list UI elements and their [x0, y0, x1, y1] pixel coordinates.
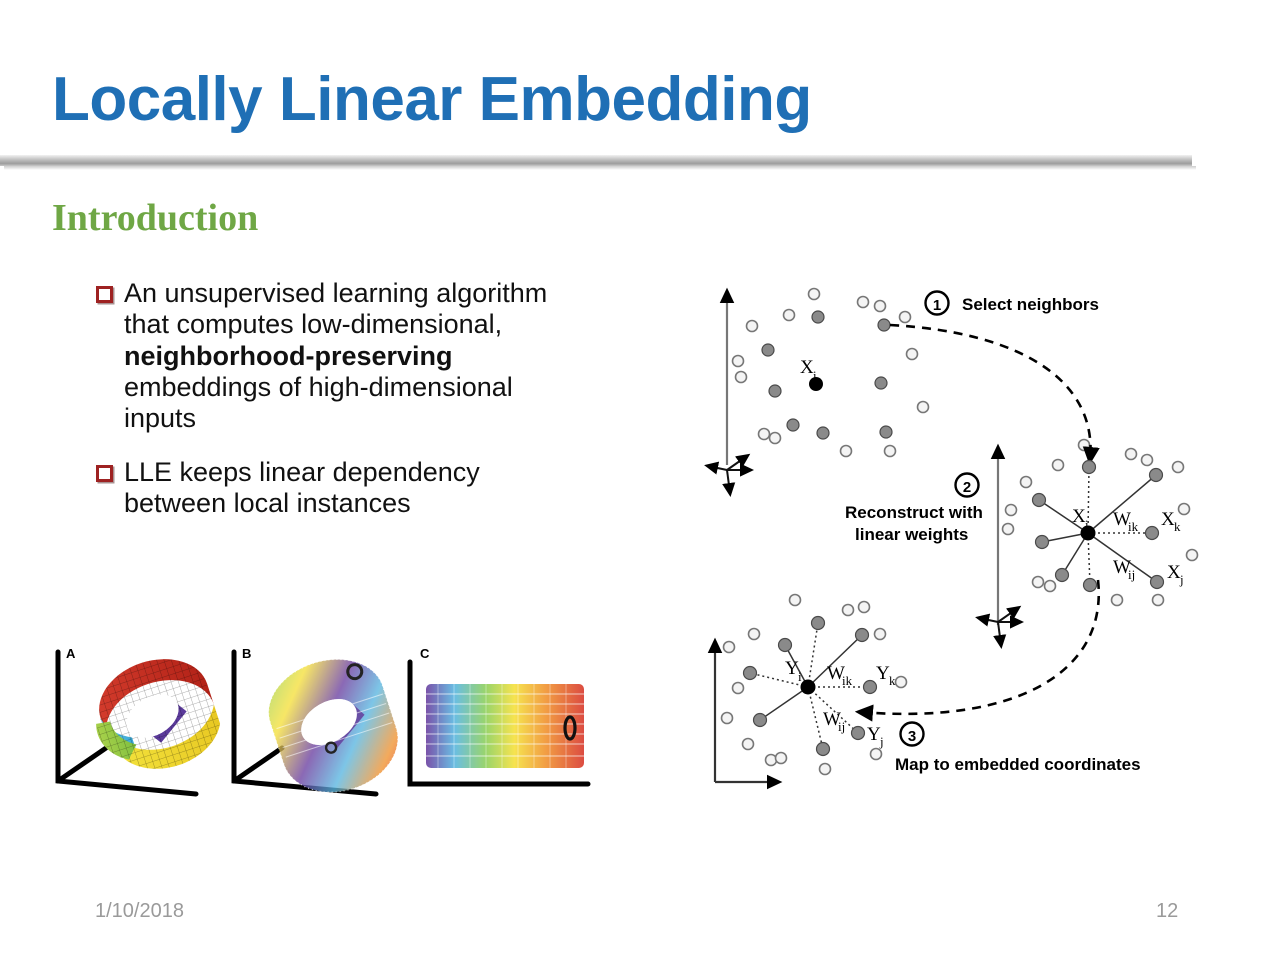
- list-item: An unsupervised learning algorithm that …: [96, 278, 566, 435]
- title-divider-shadow: [4, 166, 1196, 170]
- step-2-label-line1: Reconstruct with: [845, 503, 983, 522]
- manifold-panel-b: B: [234, 645, 410, 806]
- bullet-seg-plain-2: embeddings of high-dimensional inputs: [124, 372, 513, 433]
- panel-a-label: A: [66, 646, 76, 661]
- manifold-panel-a: A: [58, 645, 230, 794]
- label-wij-panel3-sub: ij: [838, 719, 845, 734]
- panel-b-label: B: [242, 646, 251, 661]
- step-2-number: 2: [963, 479, 971, 496]
- manifold-panel-c: C: [410, 646, 588, 784]
- label-yk-panel3: Y: [876, 663, 890, 684]
- label-yj-panel3-sub: j: [879, 734, 884, 749]
- label-xk-panel2-sub: k: [1174, 519, 1181, 534]
- title-divider: [0, 155, 1192, 166]
- label-xi-panel1-sub: i: [813, 368, 817, 383]
- bullet-text-1: LLE keeps linear dependency between loca…: [124, 457, 566, 520]
- point-yi-panel3: [801, 680, 816, 695]
- label-yi-panel3-sub: i: [798, 669, 802, 684]
- label-xj-panel2-sub: j: [1179, 572, 1184, 587]
- label-wik-panel2-sub: ik: [1128, 519, 1139, 534]
- square-bullet-icon: [96, 286, 113, 303]
- manifold-figure: A: [48, 636, 608, 816]
- step-1-number: 1: [933, 297, 941, 314]
- label-yj-panel3: Y: [867, 724, 881, 745]
- square-bullet-icon: [96, 465, 113, 482]
- label-xi-panel1: X: [800, 357, 814, 378]
- label-wij-panel2-sub: ij: [1128, 567, 1135, 582]
- manifold-figure-svg: A: [48, 636, 608, 816]
- label-xj-panel2: X: [1167, 562, 1181, 583]
- step-3-label: Map to embedded coordinates: [895, 755, 1141, 774]
- label-wik-panel3-sub: ik: [842, 673, 853, 688]
- bullet-seg-bold: neighborhood-preserving: [124, 341, 453, 371]
- lle-panel-embed: Y i W ik Y k W ij Y j: [715, 595, 907, 783]
- lle-step-3-caption: 3 Map to embedded coordinates: [895, 723, 1141, 775]
- lle-panel-select-neighbors: X i: [708, 289, 1090, 494]
- label-xk-panel2: X: [1161, 509, 1175, 530]
- page-title: Locally Linear Embedding: [52, 64, 812, 135]
- flow-arrow-1-to-2: [890, 325, 1091, 460]
- bullet-list: An unsupervised learning algorithm that …: [96, 278, 566, 541]
- section-heading: Introduction: [52, 196, 258, 240]
- bullet-text-0: An unsupervised learning algorithm that …: [124, 278, 566, 435]
- footer-date: 1/10/2018: [95, 900, 184, 923]
- step-1-label: Select neighbors: [962, 295, 1099, 314]
- step-3-number: 3: [908, 728, 916, 745]
- bullet-seg-plain: An unsupervised learning algorithm that …: [124, 278, 547, 339]
- lle-step-2-caption: 2 Reconstruct with linear weights: [845, 474, 983, 545]
- lle-steps-figure: X i 1 Select neighbors: [690, 270, 1210, 810]
- lle-panel-reconstruct: X i W ik X k W ij X j: [979, 448, 1198, 645]
- lle-step-1-caption: 1 Select neighbors: [926, 292, 1099, 315]
- label-xi-panel2-sub: i: [1085, 517, 1089, 532]
- label-xi-panel2: X: [1072, 506, 1086, 527]
- label-yi-panel3: Y: [785, 658, 799, 679]
- flow-arrow-2-to-3: [860, 580, 1099, 714]
- panel-c-label: C: [420, 646, 430, 661]
- list-item: LLE keeps linear dependency between loca…: [96, 457, 566, 520]
- lle-steps-svg: X i 1 Select neighbors: [690, 270, 1210, 810]
- footer-page-number: 12: [1156, 900, 1178, 923]
- label-yk-panel3-sub: k: [889, 673, 896, 688]
- step-2-label-line2: linear weights: [855, 525, 968, 544]
